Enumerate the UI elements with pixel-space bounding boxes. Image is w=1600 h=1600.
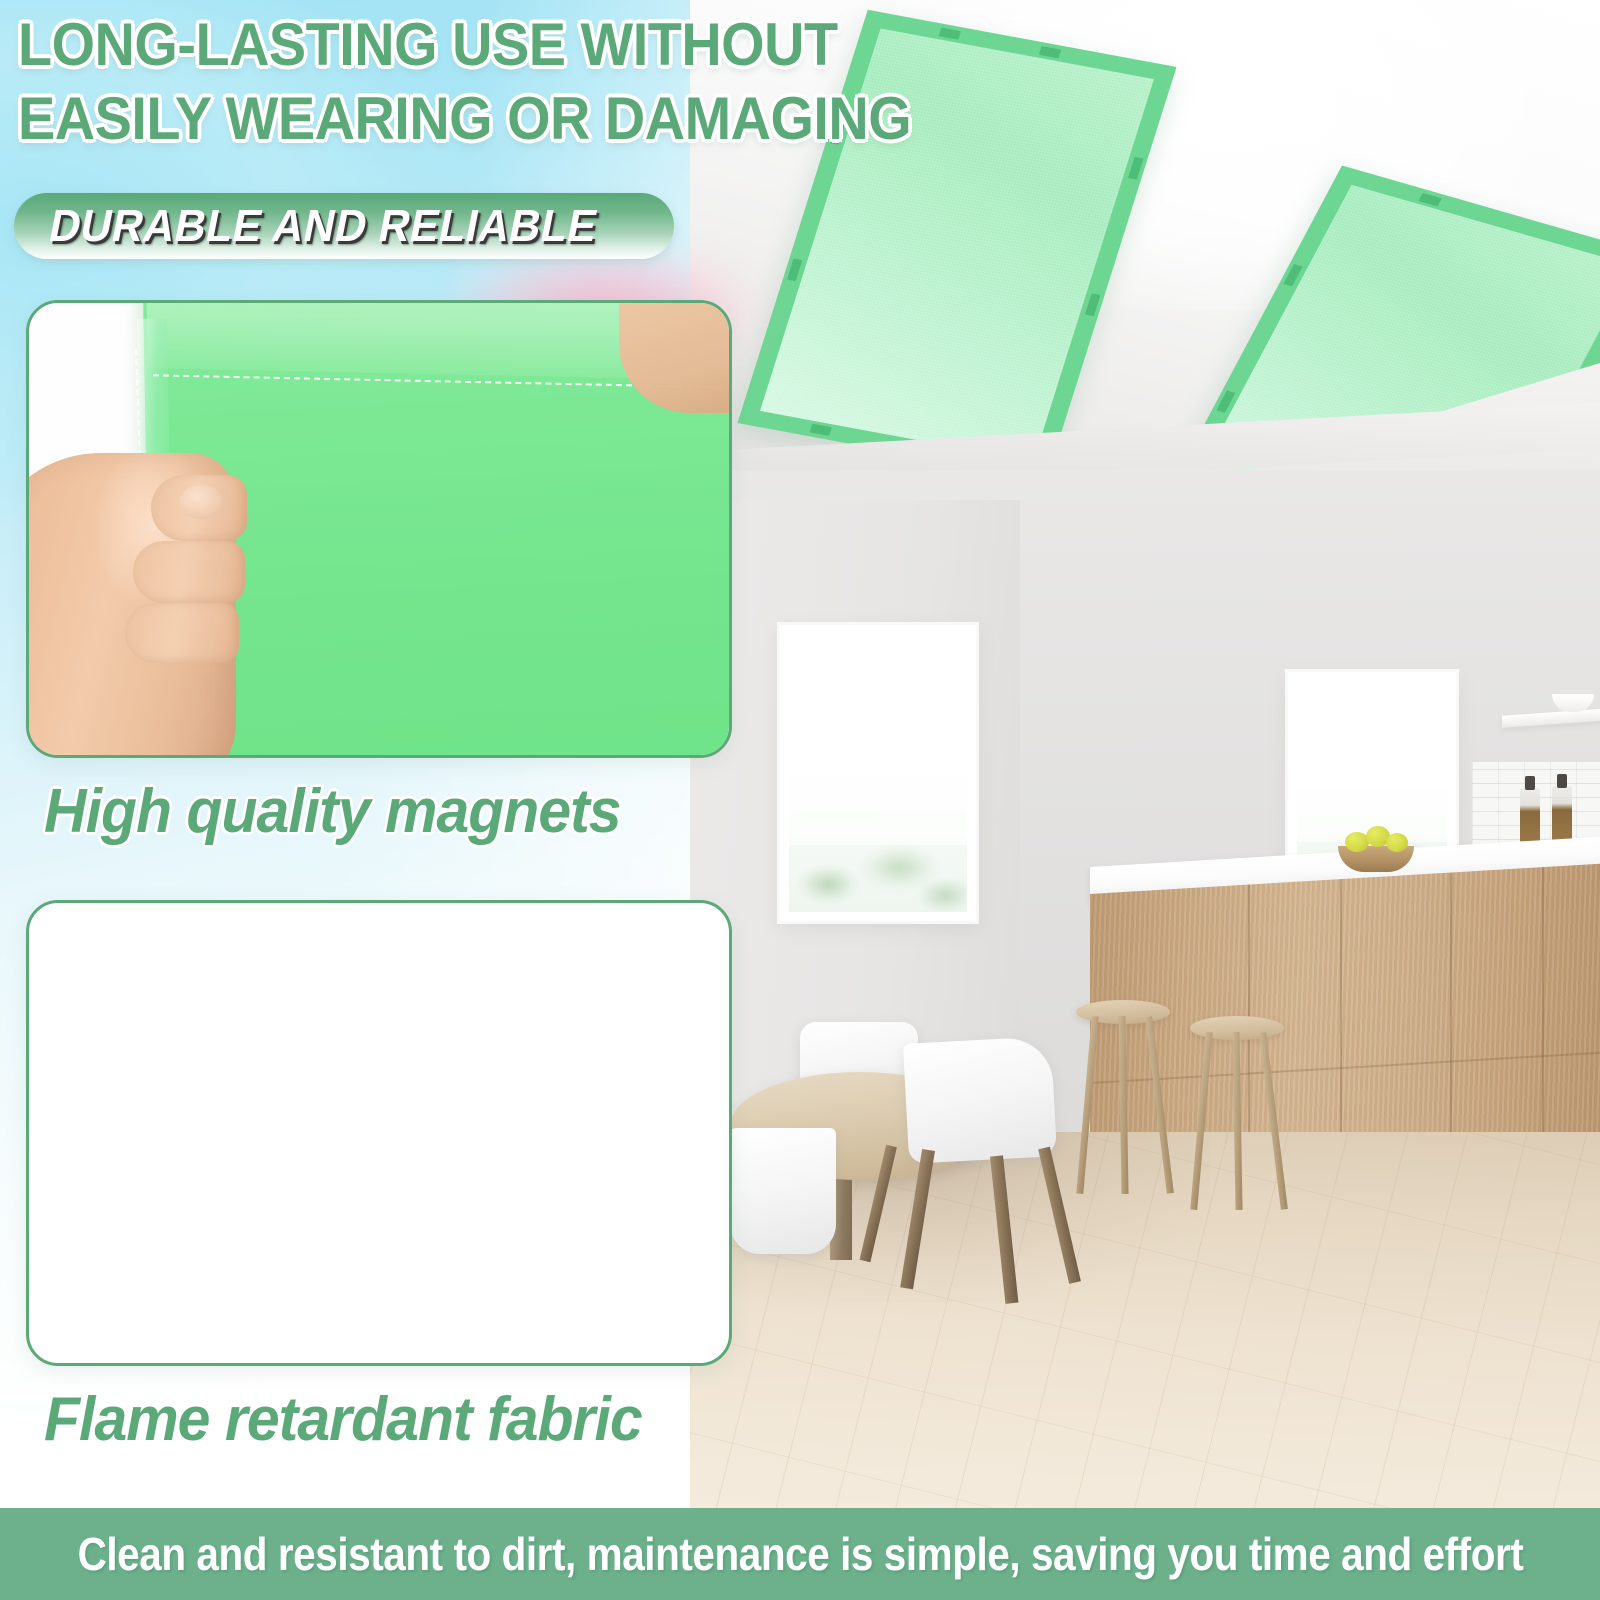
product-infographic-poster: LONG-LASTING USE WITHOUT EASILY WEARING … bbox=[0, 0, 1600, 1600]
feature-card-fabric bbox=[26, 900, 732, 1366]
footer-banner: Clean and resistant to dirt, maintenance… bbox=[0, 1508, 1600, 1600]
magnet-tab-icon bbox=[1085, 293, 1101, 316]
palm-foliage bbox=[789, 817, 967, 921]
dining-window bbox=[780, 625, 976, 921]
finger bbox=[133, 541, 245, 603]
headline-line-1: LONG-LASTING USE WITHOUT bbox=[18, 8, 957, 82]
magnet-tab-icon bbox=[809, 424, 831, 436]
cabinet-seam bbox=[1090, 1051, 1600, 1084]
headline-line-2: EASILY WEARING OR DAMAGING bbox=[18, 82, 957, 156]
feature-caption-magnets: High quality magnets bbox=[44, 776, 621, 847]
magnet-tab-icon bbox=[1128, 157, 1144, 180]
lemon bbox=[1386, 833, 1408, 852]
feature-card-magnets bbox=[26, 300, 732, 758]
badge-label: DURABLE AND RELIABLE bbox=[45, 200, 602, 252]
finger bbox=[125, 603, 239, 663]
magnet-tab-icon bbox=[1039, 46, 1061, 58]
footer-text: Clean and resistant to dirt, maintenance… bbox=[77, 1527, 1523, 1581]
feature-caption-fabric: Flame retardant fabric bbox=[44, 1384, 642, 1455]
window-sky bbox=[789, 634, 967, 845]
page-title: LONG-LASTING USE WITHOUT EASILY WEARING … bbox=[18, 8, 957, 156]
dining-chair-middle bbox=[730, 1128, 836, 1254]
window-sky bbox=[1297, 681, 1447, 842]
room-scene-photo bbox=[690, 0, 1600, 1525]
status-badge: DURABLE AND RELIABLE bbox=[14, 193, 674, 259]
magnet-tab-icon bbox=[787, 258, 803, 281]
thumbnail bbox=[179, 485, 223, 519]
dining-chair-front bbox=[903, 1036, 1057, 1164]
